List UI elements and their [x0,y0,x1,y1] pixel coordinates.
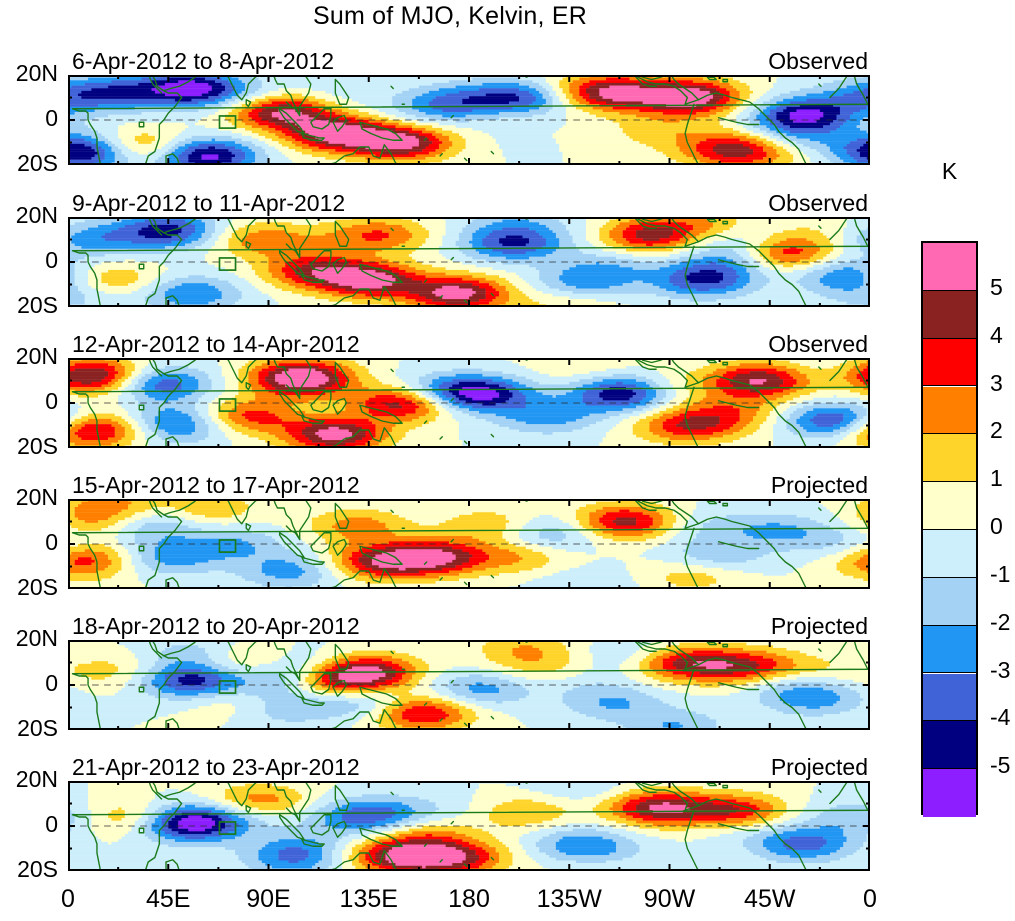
panel-date-label-4: 15-Apr-2012 to 17-Apr-2012 [72,472,360,499]
colorbar-tick-label: 4 [990,322,1003,349]
colorbar-band [923,769,976,817]
panel-date-label-5: 18-Apr-2012 to 20-Apr-2012 [72,613,360,640]
x-tick-label: 0 [815,885,925,914]
panel-frame [68,217,870,307]
panel-frame [68,499,870,589]
x-tick-label: 135W [514,885,624,914]
map-panel-4[interactable] [68,499,870,589]
colorbar-band [923,339,976,387]
y-tick-label: 20N [0,484,58,511]
colorbar-tick-label: -3 [990,657,1010,684]
panel-status-label-6: Projected [771,754,868,781]
colorbar-band [923,434,976,482]
x-tick-label: 0 [13,885,123,914]
colorbar-tick-label: -5 [990,752,1010,779]
y-tick-label: 20S [0,292,58,319]
y-tick-label: 20N [0,60,58,87]
y-tick-label: 0 [0,811,58,838]
x-tick-label: 180 [414,885,524,914]
figure-root: Sum of MJO, Kelvin, ER 20N020S20N020S20N… [0,0,1015,921]
panel-frame [68,75,870,165]
colorbar-tick-label: 5 [990,274,1003,301]
y-tick-label: 20S [0,433,58,460]
colorbar-tick-label: -4 [990,704,1010,731]
y-tick-label: 20N [0,202,58,229]
y-tick-label: 0 [0,529,58,556]
colorbar-tick-label: 3 [990,370,1003,397]
y-tick-label: 0 [0,105,58,132]
x-tick-label: 45E [113,885,223,914]
colorbar-band [923,721,976,769]
colorbar-band [923,291,976,339]
colorbar-band [923,387,976,435]
colorbar-tick-label: 1 [990,465,1003,492]
x-tick-label: 90W [615,885,725,914]
panel-status-label-5: Projected [771,613,868,640]
map-panel-6[interactable] [68,781,870,871]
panel-frame [68,640,870,730]
colorbar-band [923,243,976,291]
y-tick-label: 20S [0,574,58,601]
colorbar-band [923,482,976,530]
panel-date-label-6: 21-Apr-2012 to 23-Apr-2012 [72,754,360,781]
panel-frame [68,781,870,871]
x-tick-label: 45W [715,885,825,914]
colorbar-band [923,626,976,674]
y-tick-label: 20S [0,150,58,177]
x-tick-label: 90E [214,885,324,914]
colorbar-tick-label: 2 [990,417,1003,444]
panel-status-label-2: Observed [768,190,868,217]
y-tick-label: 20N [0,766,58,793]
x-tick-label: 135E [314,885,424,914]
colorbar-band [923,578,976,626]
colorbar-tick-label: 0 [990,513,1003,540]
panel-status-label-1: Observed [768,48,868,75]
y-tick-label: 0 [0,247,58,274]
map-panel-2[interactable] [68,217,870,307]
colorbar-tick-label: -2 [990,609,1010,636]
panel-date-label-2: 9-Apr-2012 to 11-Apr-2012 [72,190,345,217]
y-tick-label: 0 [0,388,58,415]
y-tick-label: 20S [0,856,58,883]
colorbar-tick-label: -1 [990,561,1010,588]
panel-date-label-1: 6-Apr-2012 to 8-Apr-2012 [72,48,334,75]
colorbar [921,241,978,815]
panel-status-label-4: Projected [771,472,868,499]
colorbar-unit-label: K [901,158,998,185]
panel-date-label-3: 12-Apr-2012 to 14-Apr-2012 [72,331,360,358]
figure-title: Sum of MJO, Kelvin, ER [0,2,900,31]
y-tick-label: 20N [0,343,58,370]
colorbar-band [923,530,976,578]
panel-status-label-3: Observed [768,331,868,358]
colorbar-band [923,674,976,722]
map-panel-1[interactable] [68,75,870,165]
panel-frame [68,358,870,448]
map-panel-3[interactable] [68,358,870,448]
y-tick-label: 20S [0,715,58,742]
y-tick-label: 20N [0,625,58,652]
y-tick-label: 0 [0,670,58,697]
map-panel-5[interactable] [68,640,870,730]
